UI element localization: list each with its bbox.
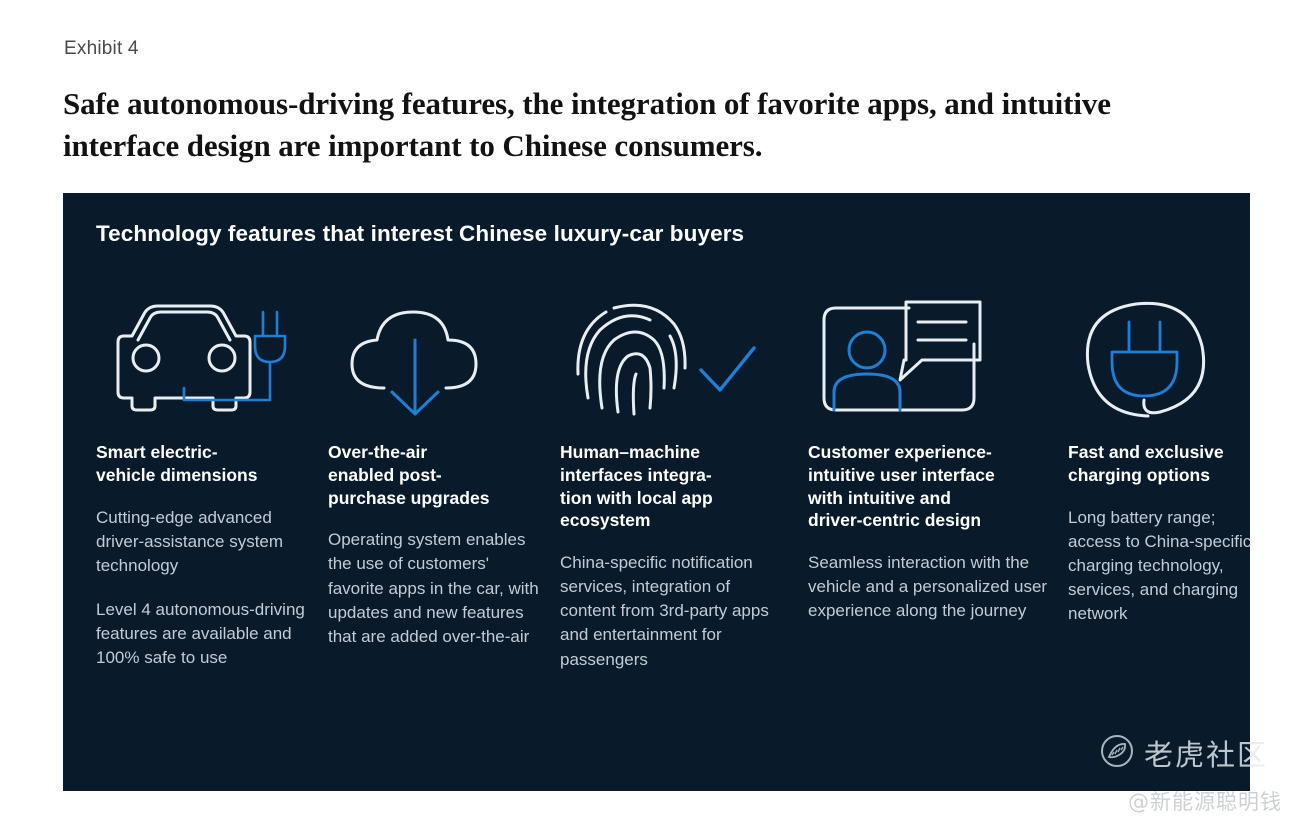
column-heading: Customer experience- intuitive user inte… — [808, 441, 1068, 532]
handle-watermark: @新能源聪明钱 — [1128, 786, 1282, 816]
exhibit-label: Exhibit 4 — [64, 38, 139, 60]
chart-panel: Technology features that interest Chines… — [63, 193, 1250, 791]
user-chat-screen-icon — [808, 281, 1068, 441]
cloud-download-icon — [328, 281, 560, 441]
feature-column-fast-charging: Fast and exclusive charging options Long… — [1068, 281, 1283, 791]
column-paragraph: Level 4 autonomous-driving features are … — [96, 598, 328, 670]
community-watermark: 老虎社区 — [1100, 732, 1268, 774]
charging-plug-circle-icon — [1068, 281, 1283, 441]
fingerprint-check-icon — [560, 281, 808, 441]
feature-column-human-machine-interface: Human–machine interfaces integra- tion w… — [560, 281, 808, 791]
column-heading: Over-the-air enabled post- purchase upgr… — [328, 441, 560, 509]
column-paragraph: Cutting-edge advanced driver-assistance … — [96, 506, 328, 578]
column-paragraph: China-specific notification services, in… — [560, 551, 808, 672]
exhibit-page: Exhibit 4 Safe autonomous-driving featur… — [0, 0, 1314, 830]
column-heading: Fast and exclusive charging options — [1068, 441, 1283, 487]
feature-column-smart-ev-dimensions: Smart electric- vehicle dimensions Cutti… — [96, 281, 328, 791]
column-heading: Human–machine interfaces integra- tion w… — [560, 441, 808, 532]
panel-title: Technology features that interest Chines… — [96, 221, 744, 247]
column-paragraph: Long battery range; access to China-spec… — [1068, 506, 1283, 627]
column-paragraph: Seamless interaction with the vehicle an… — [808, 551, 1068, 623]
tiger-logo-icon — [1100, 734, 1134, 773]
column-paragraph: Operating system enables the use of cust… — [328, 528, 560, 649]
page-title: Safe autonomous-driving features, the in… — [63, 83, 1183, 167]
community-watermark-text: 老虎社区 — [1144, 732, 1268, 774]
column-heading: Smart electric- vehicle dimensions — [96, 441, 328, 487]
feature-column-customer-experience: Customer experience- intuitive user inte… — [808, 281, 1068, 791]
feature-column-over-the-air: Over-the-air enabled post- purchase upgr… — [328, 281, 560, 791]
electric-vehicle-plug-icon — [96, 281, 328, 441]
feature-columns: Smart electric- vehicle dimensions Cutti… — [96, 281, 1250, 791]
